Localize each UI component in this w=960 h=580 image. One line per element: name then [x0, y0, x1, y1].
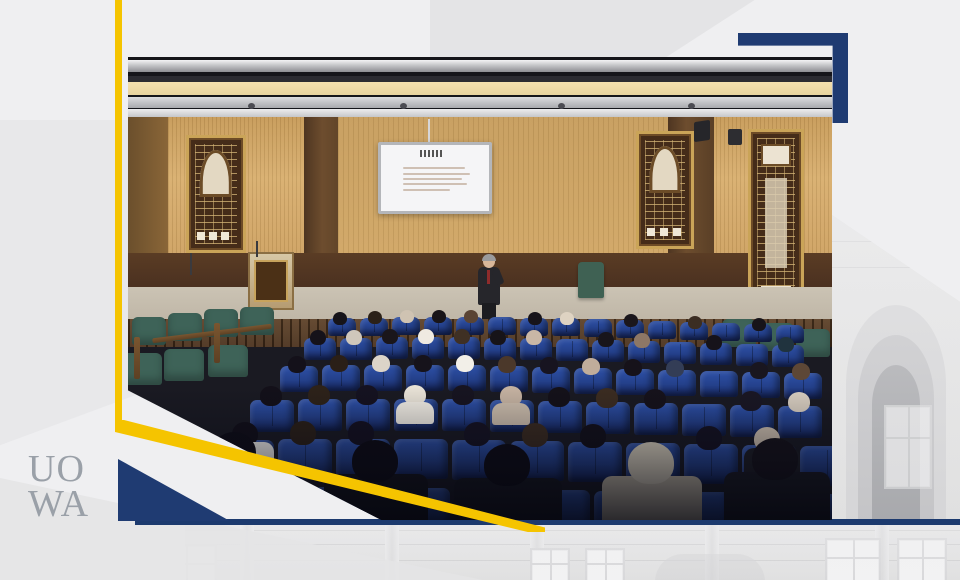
uowa-logo: UO WA [28, 452, 114, 536]
ceiling [128, 57, 832, 119]
arch-watermark-right [832, 215, 960, 525]
yellow-vertical-rule [115, 0, 122, 432]
banner-canvas: UO WA [0, 0, 960, 580]
ornamental-panel-middle [636, 131, 694, 249]
screen-hanger [428, 119, 430, 143]
uowa-logo-line2: WA [28, 487, 89, 522]
mic-stand-right [256, 241, 258, 257]
navy-triangle [118, 459, 230, 521]
wall-speaker-2 [728, 129, 742, 145]
mic-stand-left [190, 253, 192, 275]
wall-speaker [694, 120, 710, 142]
stage-chair [578, 262, 604, 298]
ornamental-panel-left [186, 135, 246, 253]
projection-screen [378, 142, 492, 214]
uowa-logo-line1: UO [28, 452, 85, 487]
presenter [476, 255, 502, 317]
lectern [248, 252, 294, 310]
